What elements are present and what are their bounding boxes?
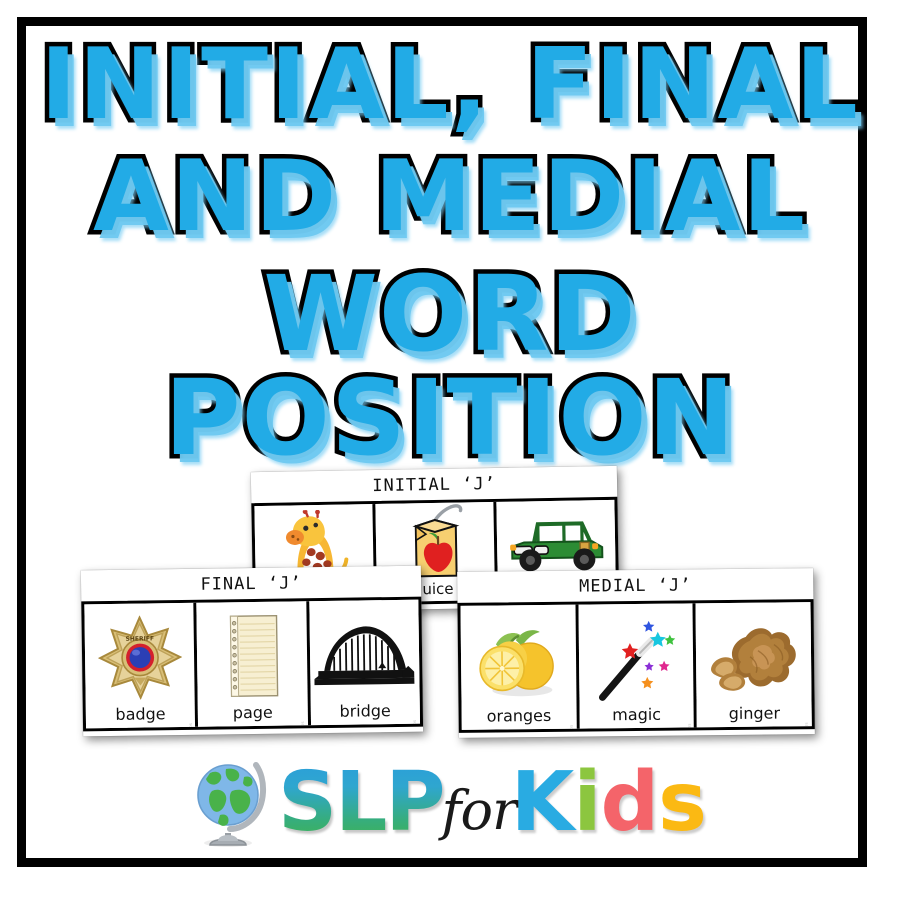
logo-kids-letter-s: s <box>658 762 706 844</box>
watermark: © SLP FOR KIDS <box>188 723 192 728</box>
flashcard-caption: magic <box>579 706 694 728</box>
jeep-icon <box>496 500 615 581</box>
globe-icon <box>194 757 272 849</box>
flashcard-cell-page[interactable]: page © SLP FOR KIDS <box>197 601 311 727</box>
svg-text:SHERIFF: SHERIFF <box>125 635 154 642</box>
flashcard-cell-bridge[interactable]: bridge © SLP FOR KIDS <box>309 600 420 726</box>
flashcard-caption: badge <box>86 706 196 729</box>
logo-for-text: for <box>441 784 516 838</box>
sheriff-badge-icon: SHERIFF <box>84 603 195 708</box>
watermark: © SLP FOR KIDS <box>687 723 691 728</box>
brand-logo[interactable]: SLP for Kids <box>0 748 900 858</box>
logo-kids-text: Kids <box>511 762 706 844</box>
notepad-page-icon <box>197 601 308 706</box>
watermark: © SLP FOR KIDS <box>805 722 809 727</box>
flashcard-medial-row: oranges © SLP FOR KIDS <box>457 599 814 733</box>
ginger-root-icon <box>696 602 812 706</box>
watermark: © SLP FOR KIDS <box>301 721 305 726</box>
flashcard-cell-ginger[interactable]: ginger © SLP FOR KIDS <box>696 602 812 727</box>
magic-wand-icon <box>578 603 694 707</box>
title-line-2: AND MEDIAL <box>0 148 900 246</box>
watermark: © SLP FOR KIDS <box>569 725 573 730</box>
poster-canvas: INITIAL, FINAL AND MEDIAL WORD POSITION … <box>0 0 900 900</box>
flashcard-final-row: SHERIFF badge © SLP FOR KIDS <box>81 597 423 732</box>
flashcard-cell-oranges[interactable]: oranges © SLP FOR KIDS <box>460 605 579 730</box>
title-line-3: WORD POSITION <box>0 262 900 470</box>
flashcard-final-heading: FINAL ‘J’ <box>81 566 421 602</box>
flashcard-cell-badge[interactable]: SHERIFF badge © SLP FOR KIDS <box>84 603 198 729</box>
title-line-1: INITIAL, FINAL <box>0 36 900 134</box>
flashcard-caption: oranges <box>462 708 577 730</box>
flashcard-medial-heading: MEDIAL ‘J’ <box>457 568 813 603</box>
flashcard-caption: ginger <box>697 705 812 727</box>
logo-kids-letter-k: K <box>511 762 574 844</box>
oranges-icon <box>460 605 576 709</box>
logo-kids-letter-d: d <box>600 762 658 844</box>
flashcard-final[interactable]: FINAL ‘J’ SHERIFF <box>81 566 423 737</box>
watermark: © SLP FOR KIDS <box>413 720 417 725</box>
logo-kids-letter-i: i <box>573 762 600 844</box>
flashcard-caption: bridge <box>310 703 420 726</box>
logo-slp-text: SLP <box>276 762 445 844</box>
bridge-icon <box>309 600 420 705</box>
flashcard-cell-magic[interactable]: magic © SLP FOR KIDS <box>578 603 697 728</box>
flashcard-medial[interactable]: MEDIAL ‘J’ <box>457 568 815 738</box>
page-title: INITIAL, FINAL AND MEDIAL WORD POSITION <box>0 36 900 470</box>
flashcard-caption: page <box>198 704 308 727</box>
